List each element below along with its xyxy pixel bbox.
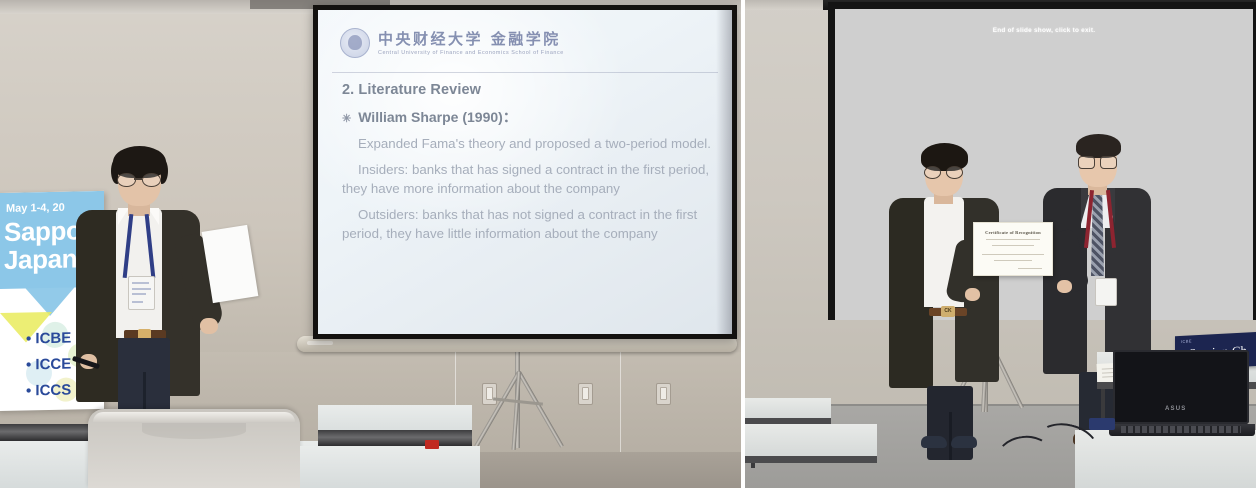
slide-paragraph: Expanded Fama's theory and proposed a tw… <box>342 134 718 154</box>
checkered-tie <box>1091 192 1104 276</box>
slide-header-rule <box>332 72 718 73</box>
end-of-slideshow-message: End of slide show, click to exit. <box>835 27 1253 34</box>
name-badge <box>1095 278 1117 306</box>
classroom-desk <box>745 424 877 458</box>
photo-left-presentation: 中央财经大学 金融学院 Central University of Financ… <box>0 0 741 488</box>
classroom-desk <box>745 398 831 420</box>
slide-organization-cn: 中央财经大学 金融学院 <box>378 28 561 49</box>
wall-outlet <box>482 383 497 405</box>
sign-conference-label: ICBE <box>1181 338 1192 344</box>
bullet-marker-icon: ✳ <box>342 114 351 125</box>
certificate: Certificate of Recognition <box>973 222 1053 276</box>
photo-pair-sheet: 中央财经大学 金融学院 Central University of Financ… <box>0 0 1256 488</box>
glasses-icon <box>1078 156 1095 169</box>
slide-paragraph: Outsiders: banks that has not signed a c… <box>342 205 718 244</box>
slide-paragraph: Insiders: banks that has signed a contra… <box>342 160 718 199</box>
projected-slide: 中央财经大学 金融学院 Central University of Financ… <box>318 10 732 334</box>
slide-bullet-line: ✳ William Sharpe (1990)： <box>342 107 718 127</box>
wall-outlet <box>656 383 671 405</box>
university-seal-logo <box>340 28 370 58</box>
classroom-desk <box>300 446 480 488</box>
chair-contour <box>142 423 246 439</box>
glasses-icon <box>117 173 136 187</box>
projection-screen-left: 中央财经大学 金融学院 Central University of Financ… <box>313 5 737 339</box>
slide-bullet-title: William Sharpe (1990)： <box>358 107 517 127</box>
belt-buckle: CK <box>941 306 955 317</box>
laptop-keyboard[interactable] <box>1121 426 1241 433</box>
slide-body: 2. Literature Review ✳ William Sharpe (1… <box>342 82 718 250</box>
screen-edge-shadow <box>716 10 732 334</box>
desk-edge <box>318 430 472 446</box>
slide-section-heading: 2. Literature Review <box>342 82 718 98</box>
slide-organization-en: Central University of Finance and Econom… <box>378 50 564 56</box>
certificate-title: Certificate of Recognition <box>974 230 1052 235</box>
award-recipient-figure: CK <box>885 140 1015 448</box>
laptop-screen: ASUS <box>1113 350 1249 424</box>
glasses-icon <box>946 166 963 179</box>
banner-dates: May 1-4, 20 <box>6 202 65 215</box>
recipient-shoe <box>921 436 947 448</box>
glasses-bridge <box>134 178 142 180</box>
recipient-hand <box>965 288 980 301</box>
desk-edge <box>0 424 90 441</box>
chair-hand <box>1057 280 1072 293</box>
presenter-figure <box>62 142 242 424</box>
slide-header: 中央财经大学 金融学院 Central University of Financ… <box>340 26 712 70</box>
wall-seam <box>620 352 621 462</box>
desk-marker <box>425 440 439 449</box>
chair-hair <box>1076 134 1121 158</box>
presenter-hand <box>200 318 218 334</box>
desk-edge <box>745 456 877 463</box>
name-badge <box>128 276 155 310</box>
glasses-icon <box>142 173 161 187</box>
photo-right-award: End of slide show, click to exit. CK <box>745 0 1256 488</box>
laptop[interactable]: ASUS <box>1113 350 1249 448</box>
glasses-icon <box>1100 156 1117 169</box>
chair-back <box>88 409 300 488</box>
wall-outlet <box>578 383 593 405</box>
recipient-shoe <box>951 436 977 448</box>
glasses-icon <box>924 166 941 179</box>
vga-connector <box>1089 418 1115 430</box>
trouser-seam <box>949 412 952 460</box>
laptop-brand-logo: ASUS <box>1165 406 1186 412</box>
